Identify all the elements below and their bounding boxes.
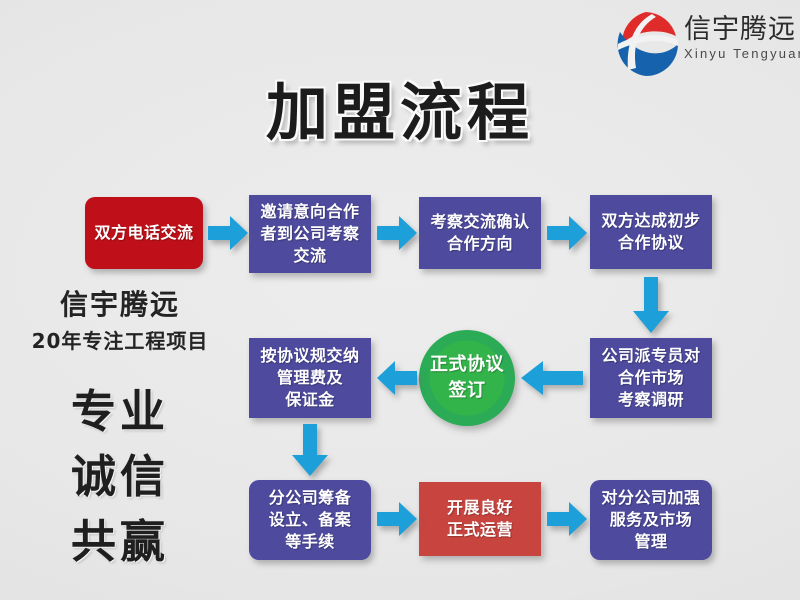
flow-node-market-survey[interactable]: 公司派专员对 合作市场 考察调研 bbox=[590, 338, 712, 418]
brand-name: 信宇腾远 bbox=[0, 283, 240, 323]
slogan-professional: 专业 bbox=[0, 375, 240, 440]
flow-node-begin-operation[interactable]: 开展良好 正式运营 bbox=[419, 482, 541, 556]
flow-node-ongoing-support[interactable]: 对分公司加强 服务及市场 管理 bbox=[590, 480, 712, 560]
arrow-left-icon bbox=[377, 359, 417, 397]
flow-node-branch-setup[interactable]: 分公司筹备 设立、备案 等手续 bbox=[249, 480, 371, 560]
page-title: 加盟流程 bbox=[0, 62, 800, 152]
flow-node-formal-agreement-signing[interactable]: 正式协议 签订 bbox=[419, 330, 515, 426]
arrow-left-icon bbox=[521, 359, 583, 397]
arrow-right-icon bbox=[547, 214, 587, 252]
flow-node-preliminary-agreement[interactable]: 双方达成初步 合作协议 bbox=[590, 195, 712, 269]
arrow-right-icon bbox=[377, 500, 417, 538]
flow-node-invite-visit[interactable]: 邀请意向合作 者到公司考察 交流 bbox=[249, 195, 371, 273]
slogan-integrity: 诚信 bbox=[0, 440, 240, 505]
arrow-right-icon bbox=[547, 500, 587, 538]
arrow-down-icon bbox=[290, 424, 330, 476]
arrow-right-icon bbox=[377, 214, 417, 252]
logo-name-cn: 信宇腾远 bbox=[684, 14, 794, 46]
brand-subtitle: 20年专注工程项目 bbox=[0, 325, 240, 354]
flowchart-slide: 信宇腾远 Xinyu Tengyuan 加盟流程 信宇腾远 20年专注工程项目 … bbox=[0, 0, 800, 600]
flow-node-pay-fees[interactable]: 按协议规交纳 管理费及 保证金 bbox=[249, 338, 371, 418]
flow-node-phone-communication[interactable]: 双方电话交流 bbox=[85, 197, 203, 269]
arrow-right-icon bbox=[208, 214, 248, 252]
logo-name-en: Xinyu Tengyuan bbox=[684, 46, 794, 62]
flow-node-confirm-direction[interactable]: 考察交流确认 合作方向 bbox=[419, 197, 541, 269]
logo-text-block: 信宇腾远 Xinyu Tengyuan bbox=[684, 14, 794, 62]
flow-node-label: 正式协议 签订 bbox=[430, 352, 504, 404]
slogan-win-win: 共赢 bbox=[0, 505, 240, 570]
arrow-down-icon bbox=[631, 277, 671, 333]
